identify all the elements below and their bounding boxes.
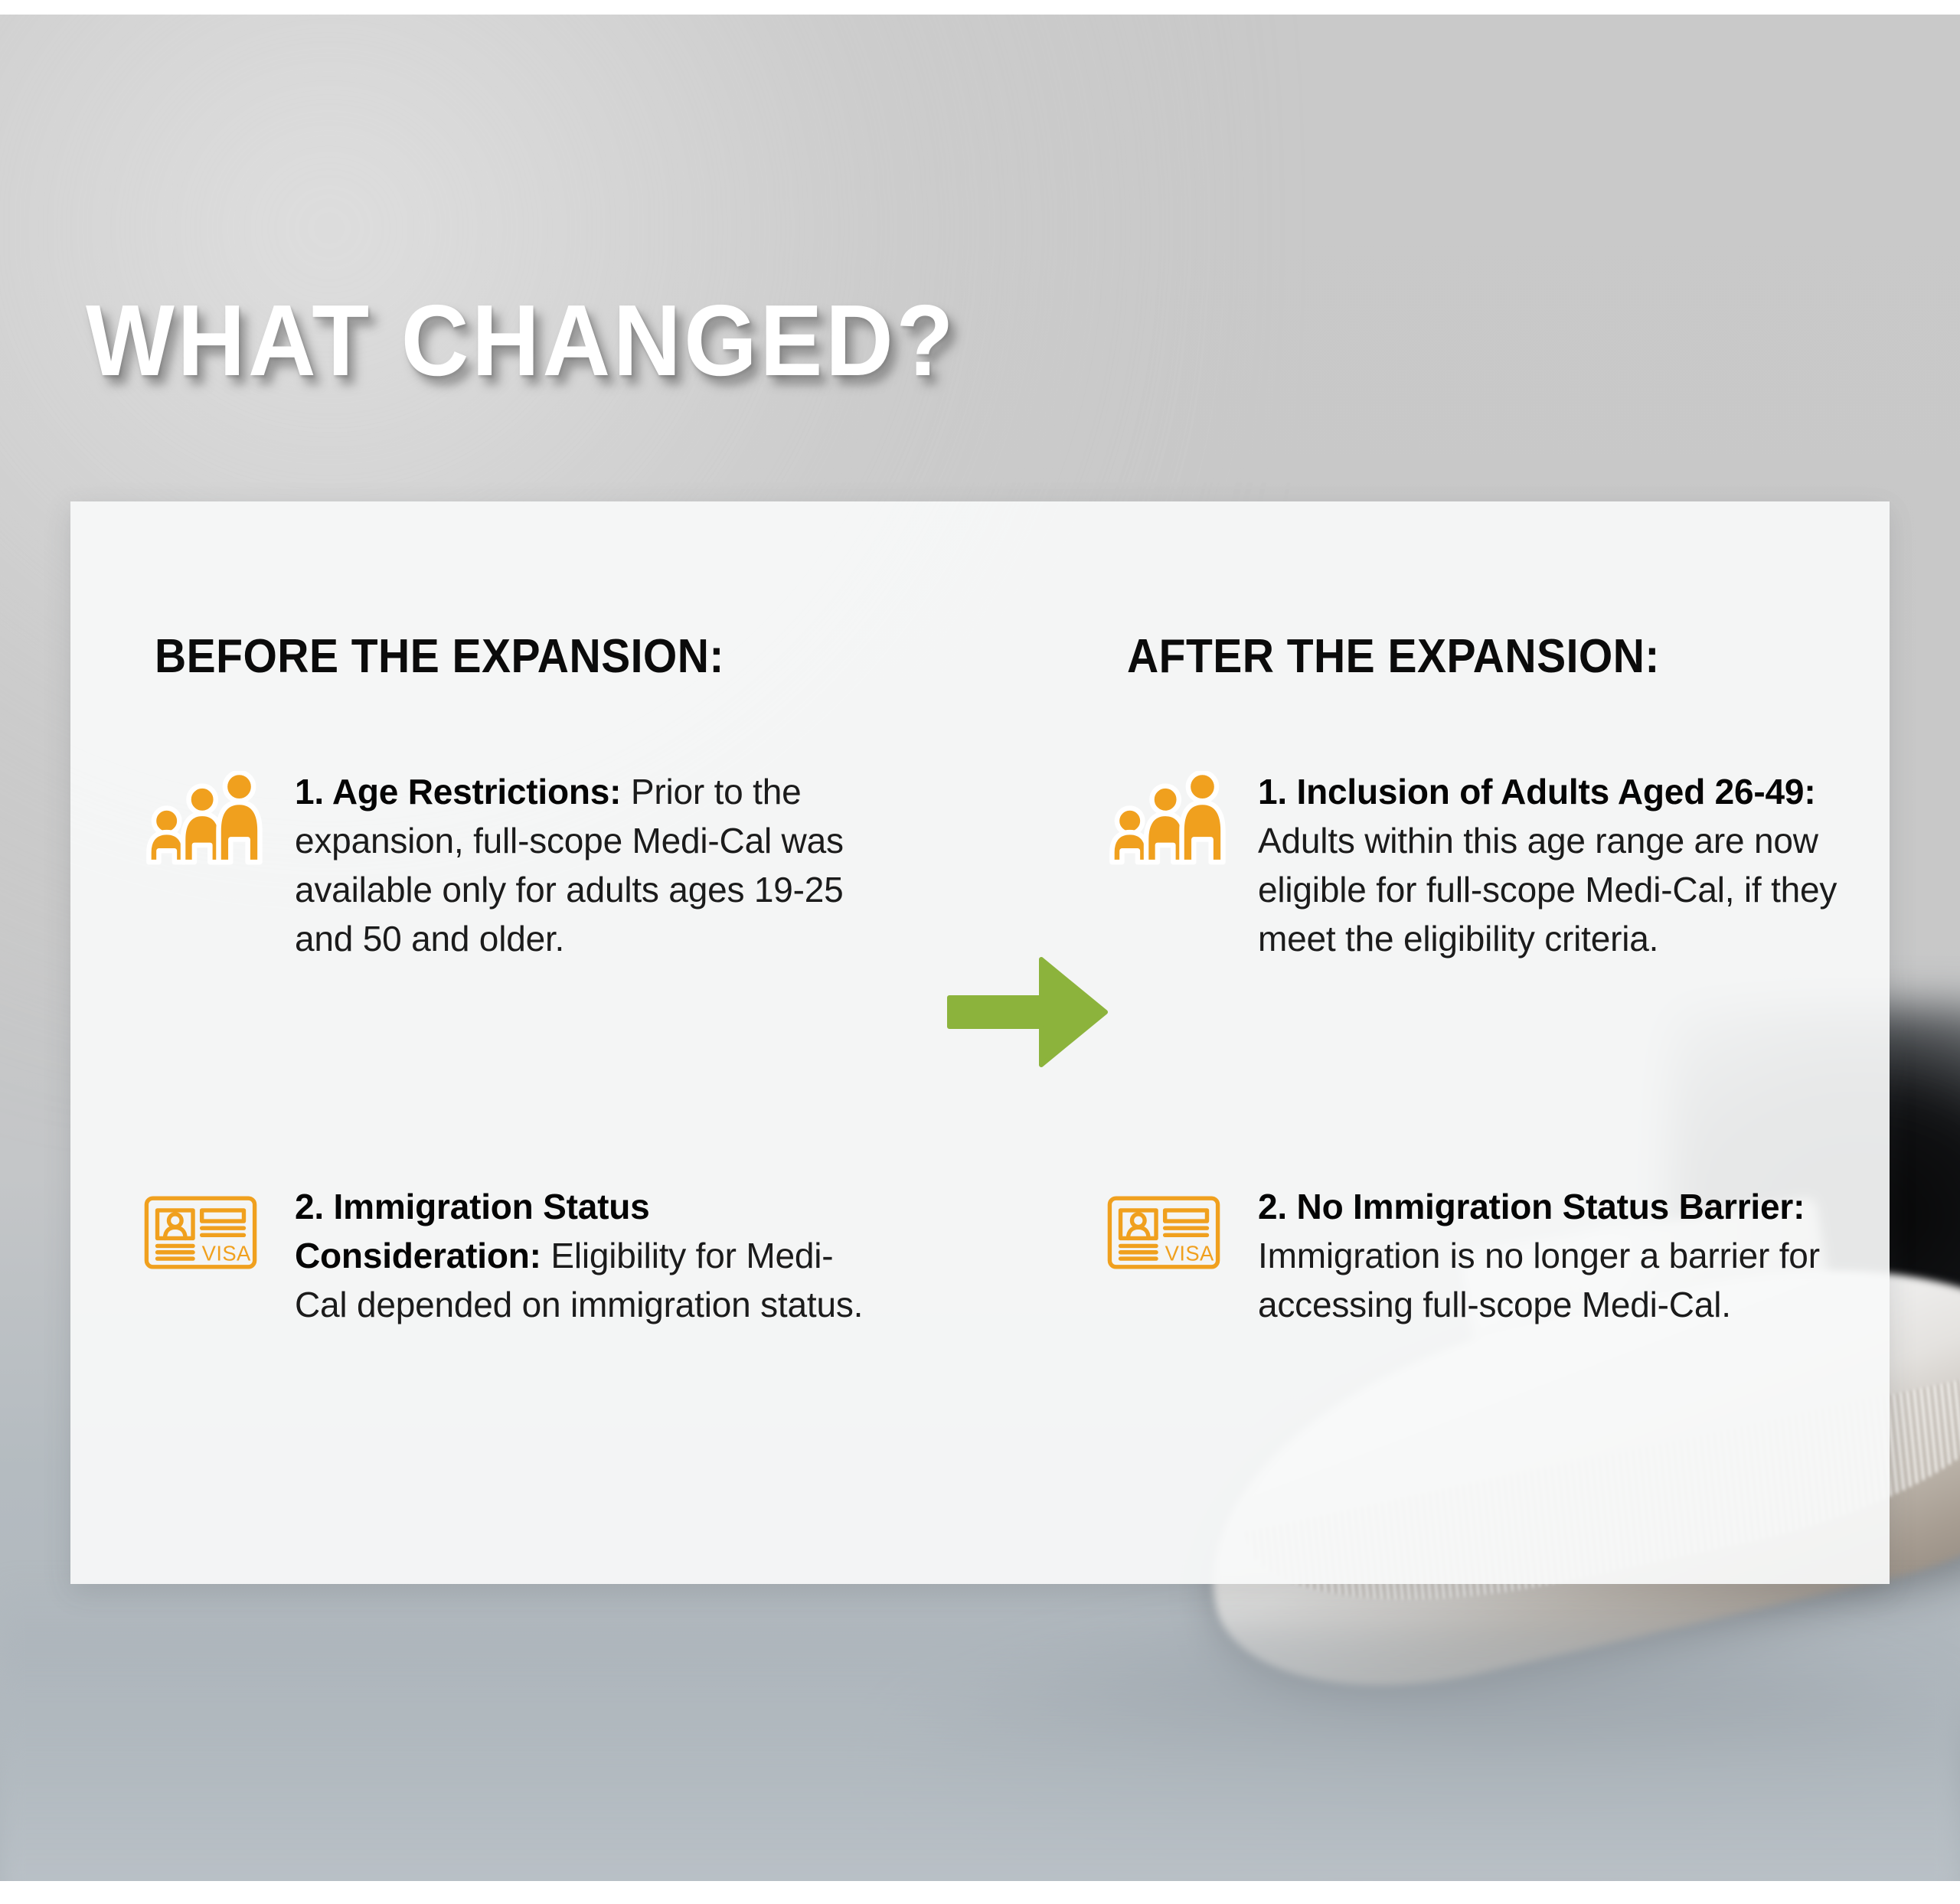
after-item-1-text: 1. Inclusion of Adults Aged 26-49: Adult… <box>1258 768 1863 964</box>
infographic-canvas: WHAT CHANGED? BEFORE THE EXPANSION: AFTE… <box>0 0 1960 1904</box>
before-item-1-lead: 1. Age Restrictions: <box>295 772 621 812</box>
visa-icon-label: VISA <box>202 1242 251 1266</box>
after-item-2-body: Immigration is no longer a barrier for a… <box>1258 1236 1820 1324</box>
content-card: BEFORE THE EXPANSION: AFTER THE EXPANSIO… <box>70 501 1890 1584</box>
after-item-1-lead: 1. Inclusion of Adults Aged 26-49: <box>1258 772 1815 812</box>
before-item-2: VISA 2. Immigration Status Consideration… <box>143 1183 909 1330</box>
visa-id-card-icon: VISA <box>143 1183 267 1270</box>
after-item-2: VISA 2. No Immigration Status Barrier: I… <box>1106 1183 1883 1330</box>
after-item-1-body: Adults within this age range are now eli… <box>1258 821 1837 959</box>
after-item-2-text: 2. No Immigration Status Barrier: Immigr… <box>1258 1183 1863 1330</box>
before-column-heading: BEFORE THE EXPANSION: <box>155 629 724 684</box>
after-item-1: 1. Inclusion of Adults Aged 26-49: Adult… <box>1106 768 1883 964</box>
bottom-letterbox-band <box>0 1881 1960 1904</box>
three-people-icon <box>143 768 267 865</box>
three-people-icon <box>1106 768 1230 865</box>
before-item-1-text: 1. Age Restrictions: Prior to the expans… <box>295 768 884 964</box>
after-item-2-lead: 2. No Immigration Status Barrier: <box>1258 1187 1805 1226</box>
after-column-heading: AFTER THE EXPANSION: <box>1127 629 1660 684</box>
visa-icon-label: VISA <box>1165 1242 1214 1266</box>
visa-id-card-icon: VISA <box>1106 1183 1230 1270</box>
background-table-surface <box>0 1576 1960 1882</box>
before-item-1: 1. Age Restrictions: Prior to the expans… <box>143 768 909 964</box>
page-title: WHAT CHANGED? <box>86 288 956 394</box>
top-letterbox-band <box>0 0 1960 15</box>
before-item-2-text: 2. Immigration Status Consideration: Eli… <box>295 1183 884 1330</box>
right-arrow-icon <box>943 949 1112 1076</box>
